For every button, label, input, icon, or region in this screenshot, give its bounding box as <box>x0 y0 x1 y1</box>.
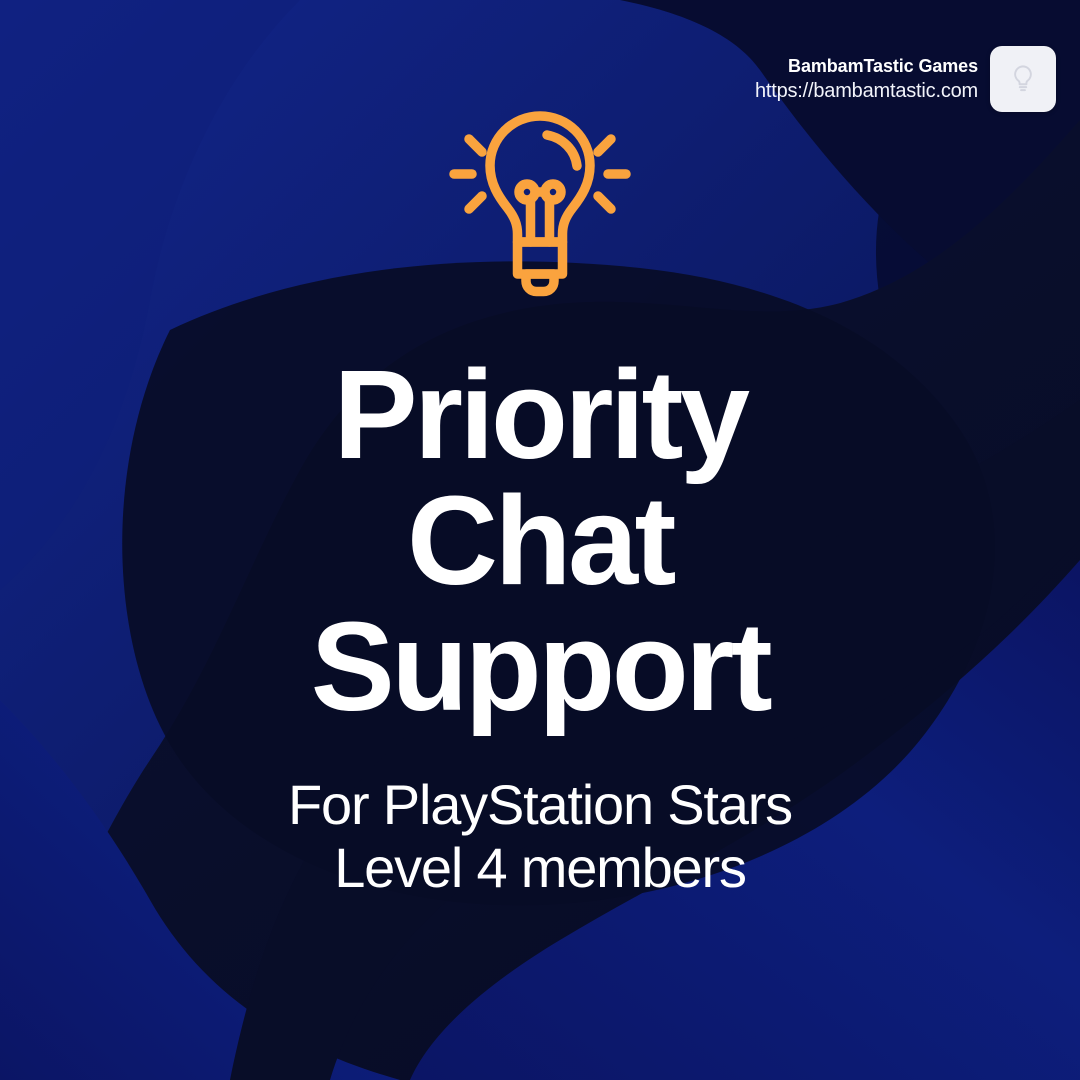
hero-icon-wrap <box>0 108 1080 318</box>
brand-text-block: BambamTastic Games https://bambamtastic.… <box>755 46 978 105</box>
brand-logo-tile[interactable] <box>990 46 1056 112</box>
poster-canvas: BambamTastic Games https://bambamtastic.… <box>0 0 1080 1080</box>
brand-header[interactable]: BambamTastic Games https://bambamtastic.… <box>755 46 1056 112</box>
lightbulb-watermark-icon <box>1010 64 1036 94</box>
page-subtitle: For PlayStation Stars Level 4 members <box>60 774 1020 899</box>
page-title: Priority Chat Support <box>60 352 1020 730</box>
subhead-line-1: For PlayStation Stars <box>60 774 1020 837</box>
subhead-line-2: Level 4 members <box>60 837 1020 900</box>
poster-content: Priority Chat Support For PlayStation St… <box>0 352 1080 899</box>
brand-url[interactable]: https://bambamtastic.com <box>755 78 978 105</box>
headline-line-1: Priority <box>60 352 1020 478</box>
brand-name: BambamTastic Games <box>755 54 978 78</box>
lightbulb-icon <box>435 108 645 318</box>
headline-line-2: Chat <box>60 478 1020 604</box>
headline-line-3: Support <box>60 604 1020 730</box>
